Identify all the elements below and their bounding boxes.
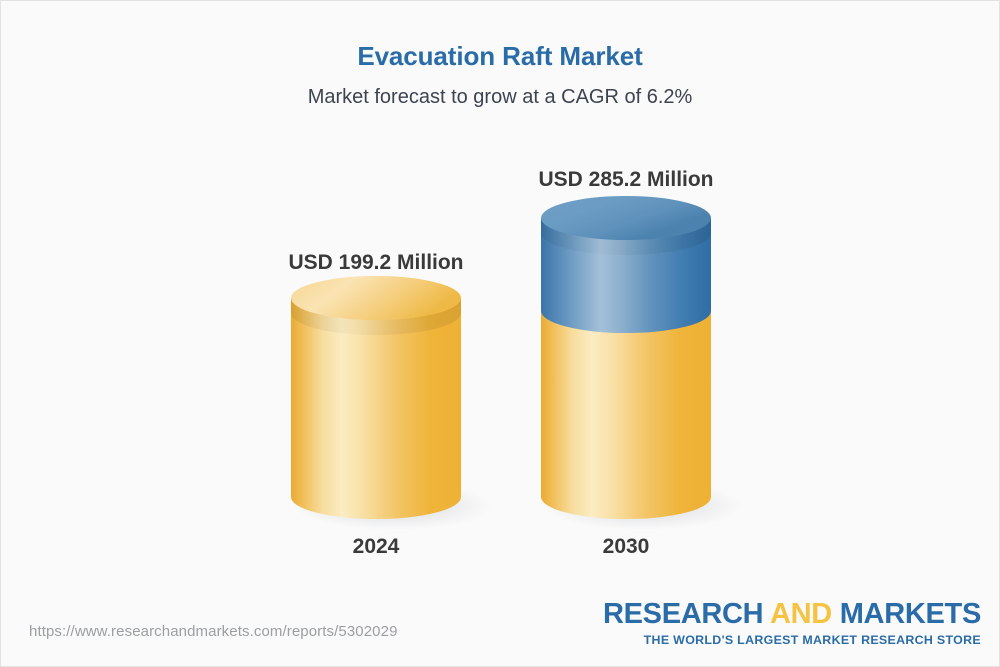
logo-wordmark: RESEARCH AND MARKETS — [603, 599, 981, 630]
bar-2030-category-label: 2030 — [456, 533, 796, 560]
bar-2030-upper-cap — [541, 196, 711, 240]
logo-word-markets: MARKETS — [840, 598, 981, 630]
bar-2024[interactable] — [291, 276, 493, 530]
logo-tagline: THE WORLD'S LARGEST MARKET RESEARCH STOR… — [603, 633, 981, 648]
chart-plot-area — [1, 1, 1000, 667]
research-and-markets-logo[interactable]: RESEARCH AND MARKETS THE WORLD'S LARGEST… — [603, 599, 981, 648]
bar-2030[interactable] — [541, 196, 743, 530]
logo-word-research: RESEARCH — [603, 598, 763, 630]
cylinder-bars-svg — [1, 1, 1000, 667]
bar-2024-value-label: USD 199.2 Million — [206, 250, 546, 276]
bar-2030-lower-body — [541, 311, 711, 519]
bar-2030-value-label: USD 285.2 Million — [456, 167, 796, 193]
logo-word-and: AND — [770, 598, 832, 630]
source-url[interactable]: https://www.researchandmarkets.com/repor… — [29, 623, 398, 640]
infographic-canvas: Evacuation Raft Market Market forecast t… — [0, 0, 1000, 667]
bar-2024-cap — [291, 276, 461, 320]
